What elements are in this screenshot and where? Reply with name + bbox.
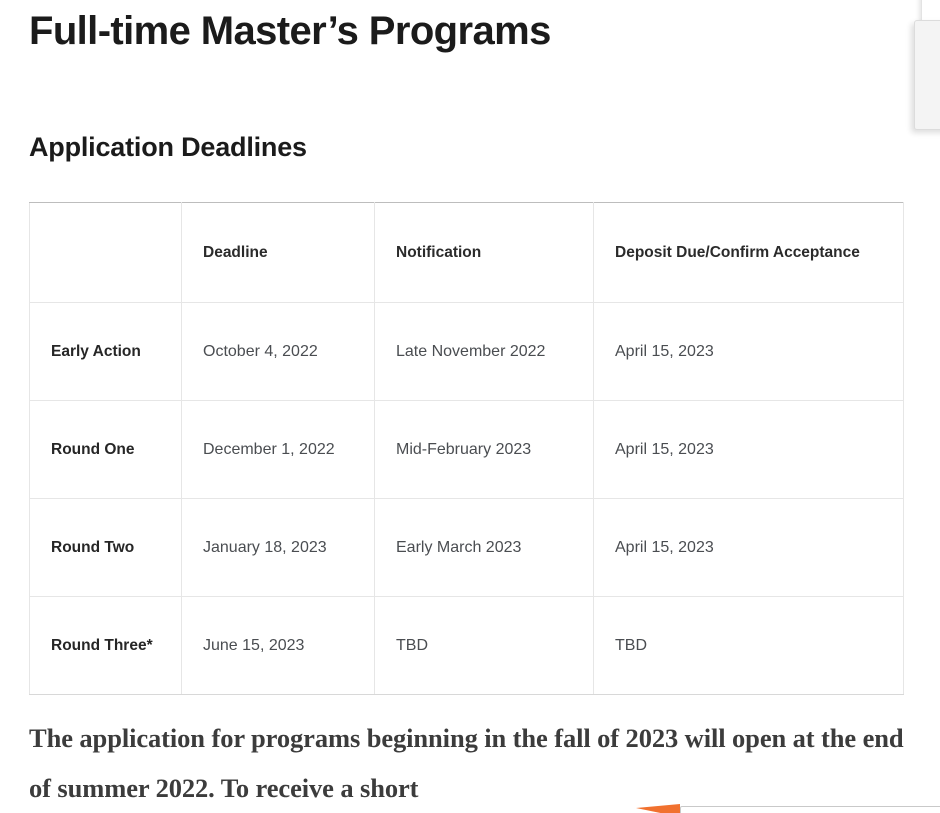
table-header: Deadline Notification Deposit Due/Confir…: [30, 203, 904, 303]
table-body: Early Action October 4, 2022 Late Novemb…: [30, 303, 904, 695]
cell-round-three-deadline: June 15, 2023: [182, 597, 375, 695]
section-heading-application-deadlines: Application Deadlines: [29, 128, 307, 166]
page-title: Full-time Master’s Programs: [29, 5, 551, 57]
cell-round-one-deposit: April 15, 2023: [594, 401, 904, 499]
row-label-round-two: Round Two: [30, 499, 182, 597]
cell-round-one-notification: Mid-February 2023: [375, 401, 594, 499]
page-root: Full-time Master’s Programs Application …: [0, 0, 940, 813]
cell-round-two-deadline: January 18, 2023: [182, 499, 375, 597]
cell-round-three-deposit: TBD: [594, 597, 904, 695]
cell-round-two-notification: Early March 2023: [375, 499, 594, 597]
cell-round-two-deposit: April 15, 2023: [594, 499, 904, 597]
cell-early-action-deposit: April 15, 2023: [594, 303, 904, 401]
row-label-round-three: Round Three*: [30, 597, 182, 695]
cell-round-three-notification: TBD: [375, 597, 594, 695]
callout-bar: [680, 806, 940, 813]
arrow-left-icon: [636, 804, 680, 813]
bottom-callout-widget: [636, 800, 940, 813]
table-row: Early Action October 4, 2022 Late Novemb…: [30, 303, 904, 401]
column-header-blank: [30, 203, 182, 303]
column-header-deadline: Deadline: [182, 203, 375, 303]
application-note-text: The application for programs beginning i…: [29, 713, 909, 813]
table-row: Round Three* June 15, 2023 TBD TBD: [30, 597, 904, 695]
column-header-deposit-due: Deposit Due/Confirm Acceptance: [594, 203, 904, 303]
row-label-early-action: Early Action: [30, 303, 182, 401]
application-deadlines-table: Deadline Notification Deposit Due/Confir…: [29, 202, 904, 695]
column-header-notification: Notification: [375, 203, 594, 303]
cell-round-one-deadline: December 1, 2022: [182, 401, 375, 499]
table-header-row: Deadline Notification Deposit Due/Confir…: [30, 203, 904, 303]
floating-panel-front: [914, 20, 940, 130]
row-label-round-one: Round One: [30, 401, 182, 499]
cell-early-action-deadline: October 4, 2022: [182, 303, 375, 401]
table-row: Round One December 1, 2022 Mid-February …: [30, 401, 904, 499]
table-row: Round Two January 18, 2023 Early March 2…: [30, 499, 904, 597]
cell-early-action-notification: Late November 2022: [375, 303, 594, 401]
